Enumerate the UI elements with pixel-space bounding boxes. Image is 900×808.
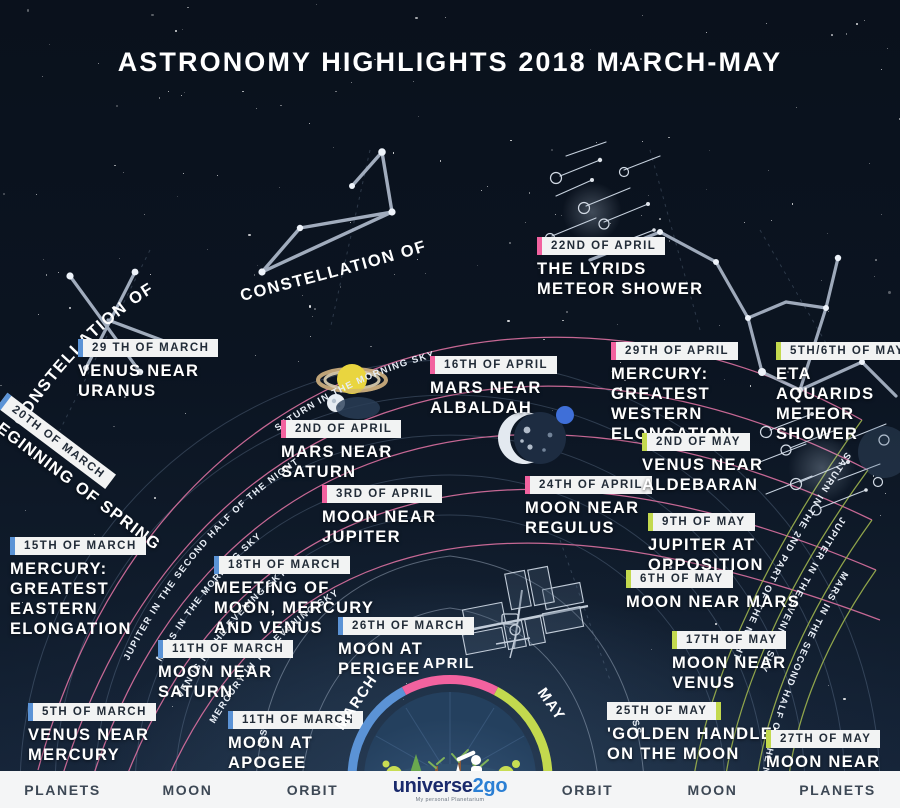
page-title: ASTRONOMY HIGHLIGHTS 2018 MARCH-MAY xyxy=(0,47,900,78)
footer-item-moon-left: MOON xyxy=(125,782,250,798)
event-golden-handle[interactable]: 25TH OF MAY 'GOLDEN HANDLE' ON THE MOON xyxy=(607,701,778,764)
event-title: 'GOLDEN HANDLE' ON THE MOON xyxy=(607,724,778,764)
event-date-chip: 29TH OF APRIL xyxy=(611,342,738,360)
event-moon-near-regulus[interactable]: 24TH OF APRIL MOON NEAR REGULUS xyxy=(525,475,652,538)
footer-item-planets-left: PLANETS xyxy=(0,782,125,798)
event-title: VENUS NEAR ALDEBARAN xyxy=(642,455,763,495)
logo-text-2go: 2go xyxy=(473,775,508,797)
event-date-chip: 11TH OF MARCH xyxy=(158,640,293,658)
event-moon-near-saturn[interactable]: 11TH OF MARCH MOON NEAR SATURN xyxy=(158,639,293,702)
footer-item-orbit-right: ORBIT xyxy=(525,782,650,798)
event-mercury-western-elongation[interactable]: 29TH OF APRIL MERCURY: GREATEST WESTERN … xyxy=(611,341,738,445)
event-moon-near-venus[interactable]: 17TH OF MAY MOON NEAR VENUS xyxy=(672,630,786,693)
event-date-chip: 25TH OF MAY xyxy=(607,702,721,720)
constellation-leo-lines xyxy=(262,152,392,272)
event-title: MERCURY: GREATEST EASTERN ELONGATION xyxy=(10,559,146,640)
event-title: MOON NEAR REGULUS xyxy=(525,498,652,538)
event-title: ETA AQUARIDS METEOR SHOWER xyxy=(776,364,900,445)
event-title: MARS NEAR ALBALDAH xyxy=(430,378,557,418)
event-eta-aquarids[interactable]: 5TH/6TH OF MAY ETA AQUARIDS METEOR SHOWE… xyxy=(776,341,900,445)
event-date-chip: 24TH OF APRIL xyxy=(525,476,652,494)
footer-item-planets-right: PLANETS xyxy=(775,782,900,798)
footer-item-moon-right: MOON xyxy=(650,782,775,798)
event-mars-near-saturn[interactable]: 2ND OF APRIL MARS NEAR SATURN xyxy=(281,419,401,482)
lyrids-meteors xyxy=(546,142,661,246)
event-moon-near-mars[interactable]: 6TH OF MAY MOON NEAR MARS xyxy=(626,569,800,612)
event-title: VENUS NEAR MERCURY xyxy=(28,725,156,765)
event-title: VENUS NEAR URANUS xyxy=(78,361,218,401)
event-date-chip: 9TH OF MAY xyxy=(648,513,755,531)
event-date-chip: 22ND OF APRIL xyxy=(537,237,665,255)
event-date-chip: 27TH OF MAY xyxy=(766,730,880,748)
event-title: MOON NEAR VENUS xyxy=(672,653,786,693)
footer-bar: PLANETS MOON ORBIT universe2go My person… xyxy=(0,771,900,808)
astronomy-infographic: SATURN IN THE MORNING SKY JUPITER IN THE… xyxy=(0,0,900,808)
event-title: THE LYRIDS METEOR SHOWER xyxy=(537,259,703,299)
event-title: MARS NEAR SATURN xyxy=(281,442,401,482)
event-date-chip: 26TH OF MARCH xyxy=(338,617,474,635)
event-mars-near-albaldah[interactable]: 16TH OF APRIL MARS NEAR ALBALDAH xyxy=(430,355,557,418)
event-moon-near-jupiter-april[interactable]: 3RD OF APRIL MOON NEAR JUPITER xyxy=(322,484,442,547)
event-date-chip: 17TH OF MAY xyxy=(672,631,786,649)
universe2go-logo[interactable]: universe2go My personal Planetarium xyxy=(375,776,525,803)
event-date-chip: 16TH OF APRIL xyxy=(430,356,557,374)
event-title: MOON NEAR MARS xyxy=(626,592,800,612)
event-date-chip: 2ND OF APRIL xyxy=(281,420,401,438)
logo-text-universe: universe xyxy=(393,775,473,797)
event-title: MOON NEAR SATURN xyxy=(158,662,293,702)
event-jupiter-at-opposition[interactable]: 9TH OF MAY JUPITER AT OPPOSITION xyxy=(648,512,764,575)
event-title: MOON NEAR JUPITER xyxy=(322,507,442,547)
event-date-chip: 15TH OF MARCH xyxy=(10,537,146,555)
event-date-chip: 29 TH OF MARCH xyxy=(78,339,218,357)
event-date-chip: 5TH OF MARCH xyxy=(28,703,156,721)
event-lyrids-meteor-shower[interactable]: 22ND OF APRIL THE LYRIDS METEOR SHOWER xyxy=(537,236,703,299)
event-date-chip: 2ND OF MAY xyxy=(642,433,750,451)
logo-tagline: My personal Planetarium xyxy=(416,798,485,803)
event-date-chip: 3RD OF APRIL xyxy=(322,485,442,503)
event-venus-near-uranus[interactable]: 29 TH OF MARCH VENUS NEAR URANUS xyxy=(78,338,218,401)
event-venus-near-aldebaran[interactable]: 2ND OF MAY VENUS NEAR ALDEBARAN xyxy=(642,432,763,495)
footer-item-orbit-left: ORBIT xyxy=(250,782,375,798)
dial-month-april: APRIL xyxy=(423,655,475,672)
event-date-chip: 5TH/6TH OF MAY xyxy=(776,342,900,360)
event-mercury-eastern-elongation[interactable]: 15TH OF MARCH MERCURY: GREATEST EASTERN … xyxy=(10,536,146,640)
event-date-chip: 6TH OF MAY xyxy=(626,570,733,588)
event-date-chip: 18TH OF MARCH xyxy=(214,556,350,574)
event-venus-near-mercury[interactable]: 5TH OF MARCH VENUS NEAR MERCURY xyxy=(28,702,156,765)
